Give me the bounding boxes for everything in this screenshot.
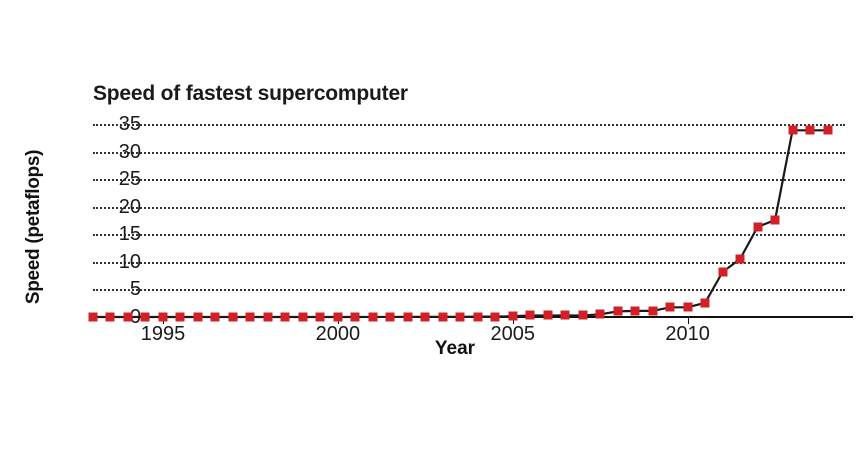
data-point-marker [543,311,552,320]
data-point-marker [473,312,482,321]
data-point-marker [333,312,342,321]
data-point-marker [631,306,640,315]
data-point-marker [561,311,570,320]
data-point-marker [176,312,185,321]
data-point-marker [368,312,377,321]
plot-area: 05101520253035 [93,124,845,317]
gridline [93,234,845,236]
data-point-marker [106,312,115,321]
data-point-marker [351,312,360,321]
data-point-marker [578,311,587,320]
chart-figure: Speed of fastest supercomputer Speed (pe… [0,0,860,460]
data-point-marker [298,312,307,321]
data-point-marker [263,312,272,321]
gridline [93,289,845,291]
data-point-marker [736,255,745,264]
data-point-marker [228,312,237,321]
gridline [93,207,845,209]
data-point-marker [788,126,797,135]
data-point-marker [438,312,447,321]
data-point-marker [666,303,675,312]
data-point-marker [456,312,465,321]
data-point-marker [701,298,710,307]
data-point-marker [193,312,202,321]
data-point-marker [141,312,150,321]
gridline [93,179,845,181]
data-point-marker [526,311,535,320]
data-point-marker [491,312,500,321]
gridline [93,124,845,126]
data-point-marker [281,312,290,321]
data-point-marker [158,312,167,321]
data-point-marker [123,312,132,321]
data-point-marker [421,312,430,321]
x-axis-title: Year [0,338,860,360]
data-point-marker [89,312,98,321]
y-tick-label: 20 [81,197,141,217]
gridline [93,262,845,264]
data-point-marker [806,126,815,135]
data-point-marker [316,312,325,321]
data-point-marker [403,312,412,321]
y-tick-label: 5 [81,279,141,299]
y-tick-label: 25 [81,169,141,189]
data-point-marker [211,312,220,321]
data-point-marker [596,310,605,319]
chart-title: Speed of fastest supercomputer [93,82,408,106]
y-tick-label: 35 [81,114,141,134]
data-point-marker [753,223,762,232]
y-tick-label: 15 [81,224,141,244]
data-point-marker [508,312,517,321]
y-axis-title: Speed (petaflops) [23,117,45,337]
y-tick-label: 30 [81,142,141,162]
data-point-marker [771,216,780,225]
gridline [93,152,845,154]
data-point-marker [246,312,255,321]
data-point-marker [683,303,692,312]
data-point-marker [823,126,832,135]
y-tick-label: 10 [81,252,141,272]
data-point-marker [718,267,727,276]
data-point-marker [386,312,395,321]
data-point-marker [648,306,657,315]
data-point-marker [613,307,622,316]
